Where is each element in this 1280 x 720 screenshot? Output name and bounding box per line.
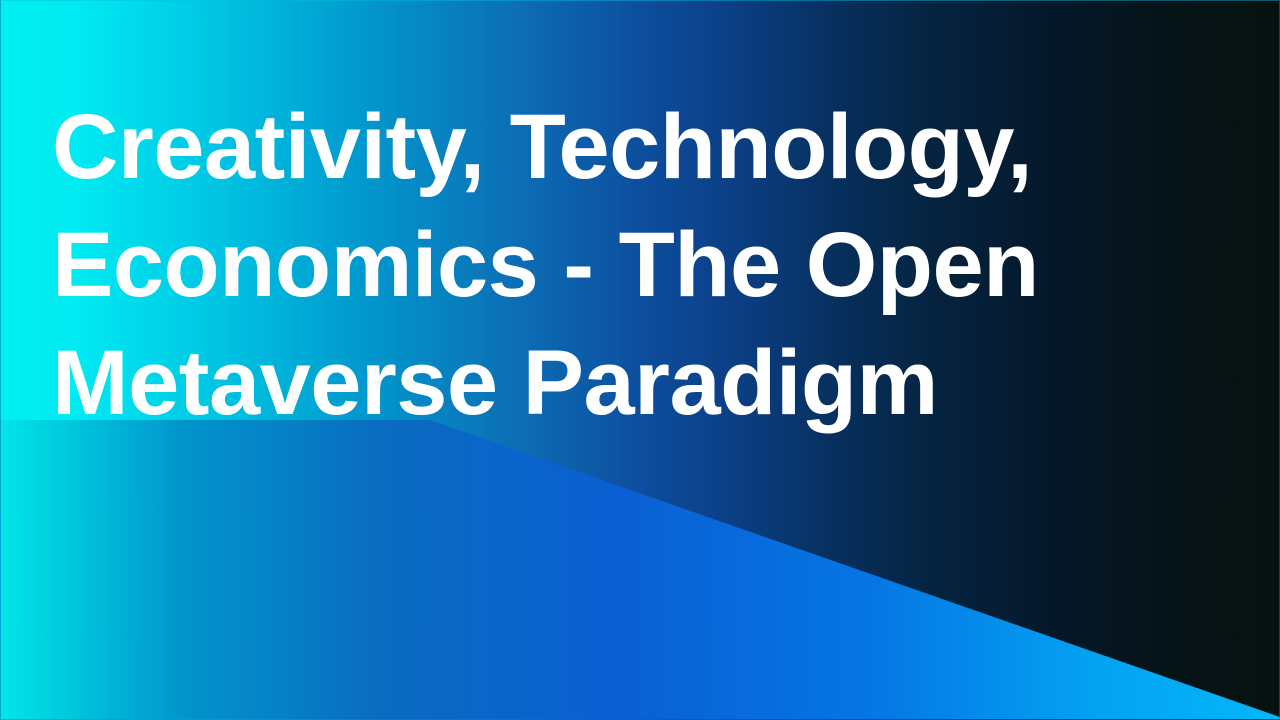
title-line-3: Metaverse Paradigm <box>52 324 1212 442</box>
title-line-2: Economics - The Open <box>52 206 1212 324</box>
page-title: Creativity, Technology, Economics - The … <box>52 88 1212 442</box>
title-line-1: Creativity, Technology, <box>52 88 1212 206</box>
accent-triangle-polygon <box>0 420 1280 719</box>
title-slide: Creativity, Technology, Economics - The … <box>0 0 1280 720</box>
